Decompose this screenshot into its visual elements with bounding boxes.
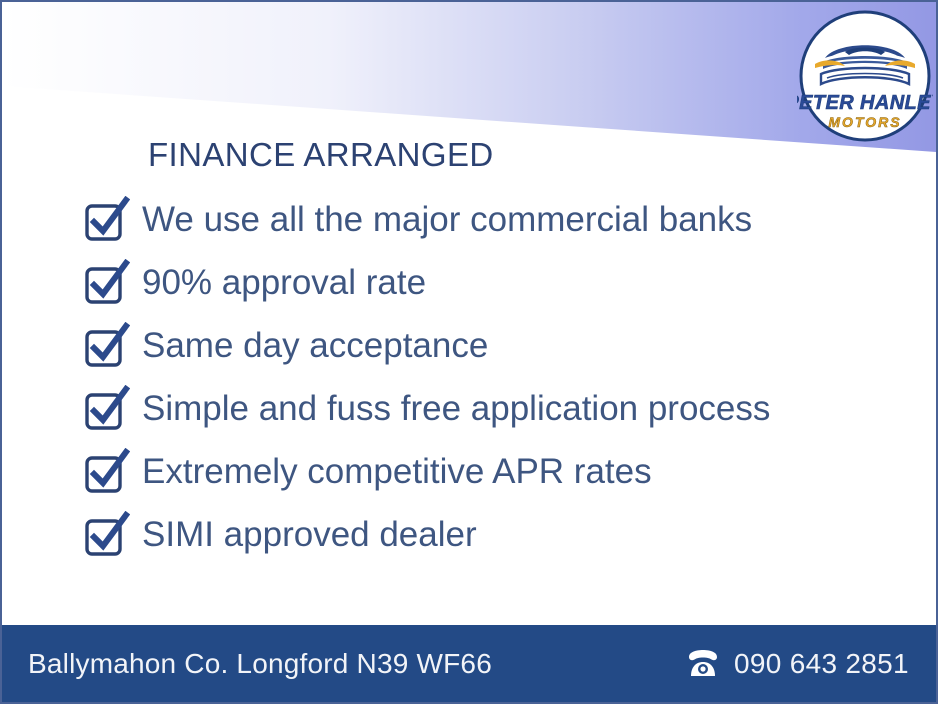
- list-item-label: Simple and fuss free application process: [142, 391, 770, 426]
- banner-gradient-wedge: [2, 2, 936, 152]
- list-item-label: Extremely competitive APR rates: [142, 454, 652, 489]
- list-item: SIMI approved dealer: [82, 503, 902, 566]
- checkbox-checked-icon: [82, 196, 130, 244]
- list-item-label: SIMI approved dealer: [142, 517, 477, 552]
- list-item: Simple and fuss free application process: [82, 377, 902, 440]
- logo-brand-line-1: PETER HANLEY: [797, 92, 933, 114]
- logo-brand-line-2: MOTORS: [828, 114, 901, 130]
- list-item: We use all the major commercial banks: [82, 188, 902, 251]
- list-item: 90% approval rate: [82, 251, 902, 314]
- list-item-label: 90% approval rate: [142, 265, 426, 300]
- list-item: Extremely competitive APR rates: [82, 440, 902, 503]
- checkbox-checked-icon: [82, 448, 130, 496]
- page-title: FINANCE ARRANGED: [148, 136, 494, 174]
- list-item-label: Same day acceptance: [142, 328, 488, 363]
- phone-number[interactable]: 090 643 2851: [734, 648, 909, 680]
- checkbox-checked-icon: [82, 511, 130, 559]
- checkbox-checked-icon: [82, 385, 130, 433]
- brand-logo: PETER HANLEY MOTORS: [797, 8, 933, 144]
- list-item: Same day acceptance: [82, 314, 902, 377]
- dealer-address: Ballymahon Co. Longford N39 WF66: [28, 648, 492, 680]
- contact-footer: Ballymahon Co. Longford N39 WF66 090 643…: [2, 625, 936, 702]
- advert-banner: PETER HANLEY MOTORS FINANCE ARRANGED We …: [0, 0, 938, 704]
- checkbox-checked-icon: [82, 259, 130, 307]
- telephone-icon: [686, 650, 720, 678]
- checkbox-checked-icon: [82, 322, 130, 370]
- phone-contact[interactable]: 090 643 2851: [686, 648, 909, 680]
- list-item-label: We use all the major commercial banks: [142, 202, 752, 237]
- feature-list: We use all the major commercial banks 90…: [82, 188, 902, 566]
